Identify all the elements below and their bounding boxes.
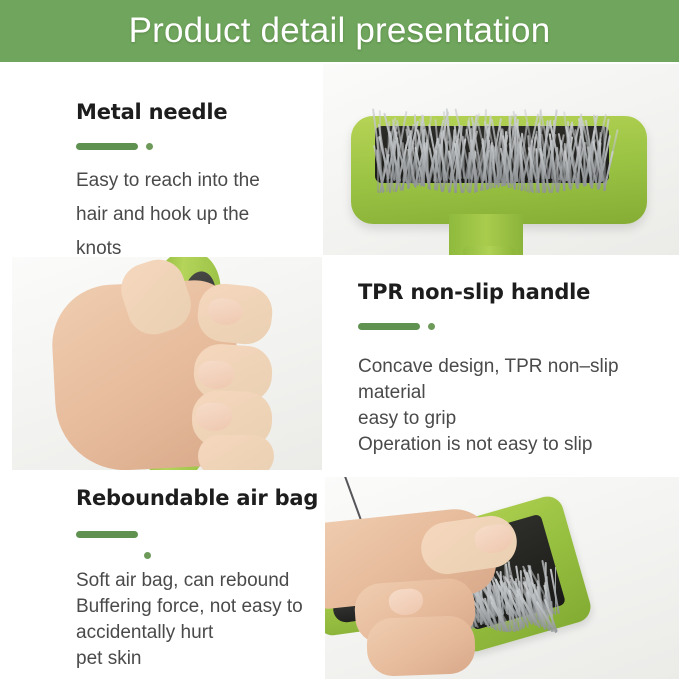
section-tpr-handle: TPR non-slip handle Concave design, TPR …: [358, 280, 658, 458]
section-body-tpr-handle: Concave design, TPR non–slip material ea…: [358, 354, 658, 458]
ring-finger: [366, 615, 476, 677]
divider-dot-row-air-bag: [76, 552, 336, 564]
section-heading-tpr-handle: TPR non-slip handle: [358, 280, 658, 304]
section-body-metal-needle: Easy to reach into the hair and hook up …: [76, 164, 316, 266]
photo-tpr-handle: [12, 257, 322, 470]
divider-bar: [76, 143, 138, 150]
photo-metal-needle: [323, 64, 679, 255]
section-metal-needle: Metal needle Easy to reach into the hair…: [76, 100, 316, 266]
divider-dot: [428, 323, 435, 330]
divider-metal-needle: [76, 140, 316, 152]
divider-dot: [146, 143, 153, 150]
little-finger: [198, 435, 274, 470]
divider-air-bag: [76, 528, 336, 540]
section-air-bag: Reboundable air bag Soft air bag, can re…: [76, 486, 336, 672]
brush-stem: [463, 246, 515, 255]
divider-bar: [358, 323, 420, 330]
section-heading-air-bag: Reboundable air bag: [76, 486, 336, 510]
photo-air-bag: [325, 477, 679, 679]
divider-bar: [76, 531, 138, 538]
divider-tpr-handle: [358, 320, 658, 332]
page-title: Product detail presentation: [129, 11, 551, 51]
section-body-air-bag: Soft air bag, can rebound Buffering forc…: [76, 568, 336, 672]
section-heading-metal-needle: Metal needle: [76, 100, 316, 124]
product-detail-presentation: Product detail presentation Metal needle…: [0, 0, 679, 679]
header-banner: Product detail presentation: [0, 0, 679, 62]
divider-dot: [144, 552, 151, 559]
